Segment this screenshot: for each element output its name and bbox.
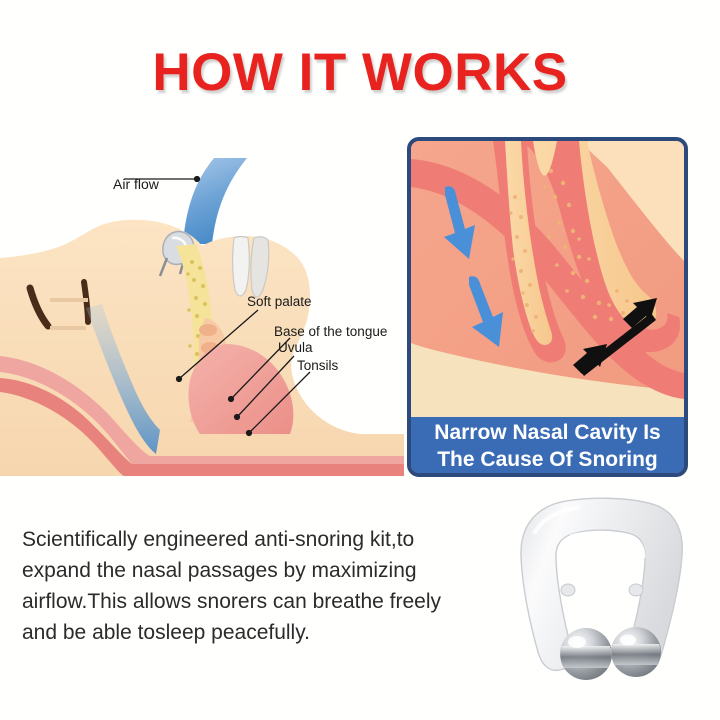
magnet-ball-right bbox=[611, 627, 661, 677]
narrow-nasal-cavity-panel: Narrow Nasal Cavity Is The Cause Of Snor… bbox=[407, 137, 688, 477]
nasal-cavity-illustration bbox=[411, 141, 684, 422]
label-tonsils: Tonsils bbox=[297, 358, 338, 373]
panel-caption-line1: Narrow Nasal Cavity Is bbox=[411, 419, 684, 446]
clip-nub-right bbox=[629, 584, 643, 596]
label-uvula: Uvula bbox=[278, 340, 313, 355]
anatomy-diagram bbox=[0, 140, 404, 480]
infographic-page: HOW IT WORKS bbox=[0, 0, 720, 720]
clip-nub-left bbox=[561, 584, 575, 596]
description-line-3: airflow.This allows snorers can breathe … bbox=[22, 586, 492, 617]
page-title: HOW IT WORKS bbox=[0, 46, 720, 99]
description-line-2: expand the nasal passages by maximizing bbox=[22, 555, 492, 586]
label-air-flow: Air flow bbox=[113, 176, 159, 192]
label-base-of-tongue: Base of the tongue bbox=[274, 324, 387, 339]
description-text: Scientifically engineered anti-snoring k… bbox=[22, 524, 492, 648]
magnet-ball-left bbox=[560, 628, 612, 680]
description-line-1: Scientifically engineered anti-snoring k… bbox=[22, 524, 492, 555]
air-flow-stream bbox=[183, 158, 247, 244]
tooth-upper bbox=[233, 237, 250, 297]
panel-caption: Narrow Nasal Cavity Is The Cause Of Snor… bbox=[411, 417, 684, 473]
description-line-4: and be able tosleep peacefully. bbox=[22, 617, 492, 648]
panel-caption-line2: The Cause Of Snoring bbox=[411, 446, 684, 473]
label-soft-palate: Soft palate bbox=[247, 294, 312, 309]
product-image-nose-clip bbox=[512, 494, 702, 690]
clip-inner-highlight bbox=[570, 532, 644, 558]
